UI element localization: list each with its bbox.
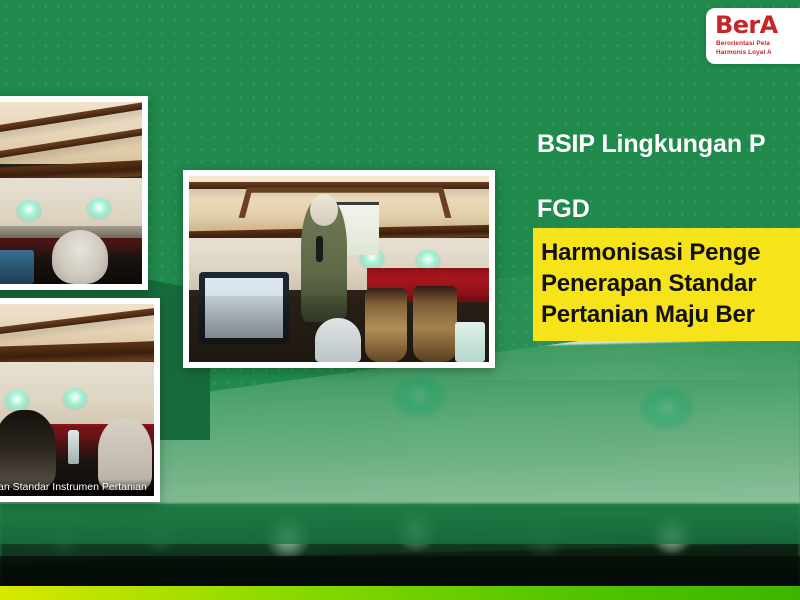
highlight-title-box: Harmonisasi Penge Penerapan Standar Pert… xyxy=(533,228,800,341)
logo-wordmark: BerA xyxy=(715,11,778,39)
photo-monitor xyxy=(0,250,34,284)
photo-foreground xyxy=(0,226,142,284)
photo-presenter-headscarf xyxy=(310,194,338,226)
highlight-line-2: Penerapan Standar xyxy=(541,268,800,299)
photo-frame-top-left xyxy=(0,96,148,290)
photo-person-left xyxy=(0,410,56,488)
photo-caption: an Standar Instrumen Pertanian xyxy=(0,479,154,496)
photo-display-bottle xyxy=(413,286,457,362)
berakhlak-logo: BerA Berorientasi Pela Harmonis Loyal A xyxy=(706,8,800,64)
bottom-accent-bar xyxy=(0,586,800,600)
photo-frame-center xyxy=(183,170,495,368)
wall-lamp-icon xyxy=(4,390,30,412)
highlight-line-3: Pertanian Maju Ber xyxy=(541,299,800,330)
wall-lamp-icon xyxy=(86,198,112,220)
bottom-dark-strip xyxy=(0,556,800,586)
photo-microphone xyxy=(316,236,323,262)
photo-glass-jar xyxy=(315,318,361,362)
photo-person-headscarf xyxy=(52,230,108,284)
photo-display-bottle xyxy=(365,288,407,362)
photo-center xyxy=(189,176,489,362)
wall-lamp-icon xyxy=(16,200,42,222)
photo-bottom-left: an Standar Instrumen Pertanian xyxy=(0,304,154,496)
wall-lamp-icon xyxy=(62,388,88,410)
photo-tablet xyxy=(455,322,485,362)
logo-tagline: Berorientasi Pela Harmonis Loyal A xyxy=(716,39,772,57)
photo-water-bottle xyxy=(68,430,79,464)
slide-headline: BSIP Lingkungan P xyxy=(537,128,800,161)
highlight-line-1: Harmonisasi Penge xyxy=(541,237,800,268)
logo-tagline-line-1: Berorientasi Pela xyxy=(716,39,772,48)
slide-subhead: FGD xyxy=(537,193,590,226)
photo-top-left xyxy=(0,102,142,284)
logo-tagline-line-2: Harmonis Loyal A xyxy=(716,48,772,57)
slide-canvas: BerA Berorientasi Pela Harmonis Loyal A xyxy=(0,0,800,600)
mid-green-band xyxy=(0,504,800,544)
photo-frame-bottom-left: an Standar Instrumen Pertanian xyxy=(0,298,160,502)
